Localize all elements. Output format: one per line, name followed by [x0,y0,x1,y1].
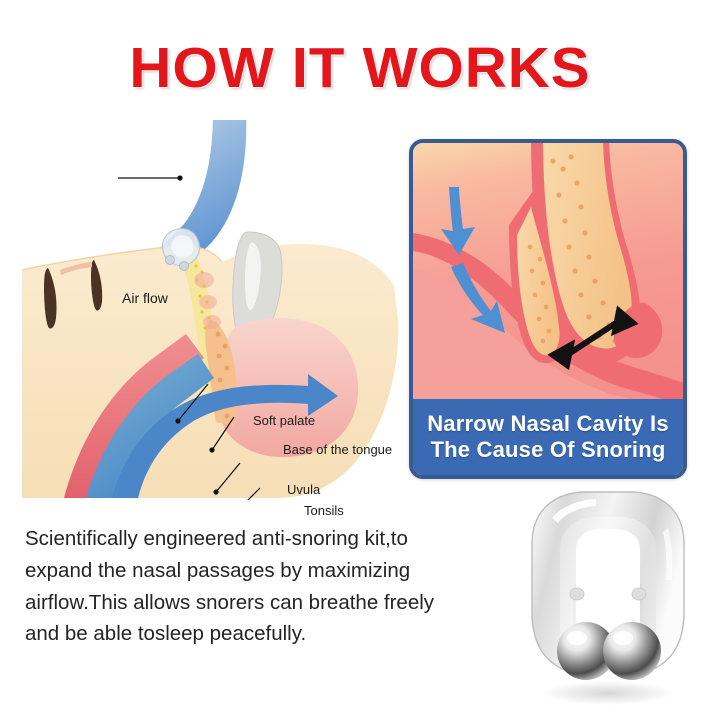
nub-right [632,588,646,600]
nasal-cavity-cross-section [413,143,685,411]
magnetic-silicone-nose-clip [500,488,715,713]
narrow-nasal-cavity-panel: Narrow Nasal Cavity Is The Cause Of Snor… [409,139,687,479]
clip-aperture [576,529,640,638]
magnet-highlight-left [567,631,587,645]
description-line-3: airflow.This allows snorers can breathe … [25,587,485,619]
magnet-highlight-right [613,631,633,645]
product-description: Scientifically engineered anti-snoring k… [25,523,485,650]
caption-line-1: Narrow Nasal Cavity Is [427,411,669,437]
sagittal-head-airway-diagram: Air flow Soft palate Base of the tongue … [8,120,408,500]
product-shadow [542,681,674,705]
description-line-1: Scientifically engineered anti-snoring k… [25,523,485,555]
panel-caption: Narrow Nasal Cavity Is The Cause Of Snor… [413,399,683,475]
description-line-4: and be able tosleep peacefully. [25,618,485,650]
page-title: HOW IT WORKS [0,40,720,97]
nub-left [570,588,584,600]
label-uvula: Uvula [287,482,320,497]
caption-line-2: The Cause Of Snoring [430,437,665,463]
magnet-ball-right [603,622,661,680]
label-soft-palate: Soft palate [253,413,315,428]
description-line-2: expand the nasal passages by maximizing [25,555,485,587]
label-base-of-the-tongue: Base of the tongue [283,442,392,457]
label-air-flow: Air flow [122,290,168,306]
label-tonsils: Tonsils [304,503,344,518]
